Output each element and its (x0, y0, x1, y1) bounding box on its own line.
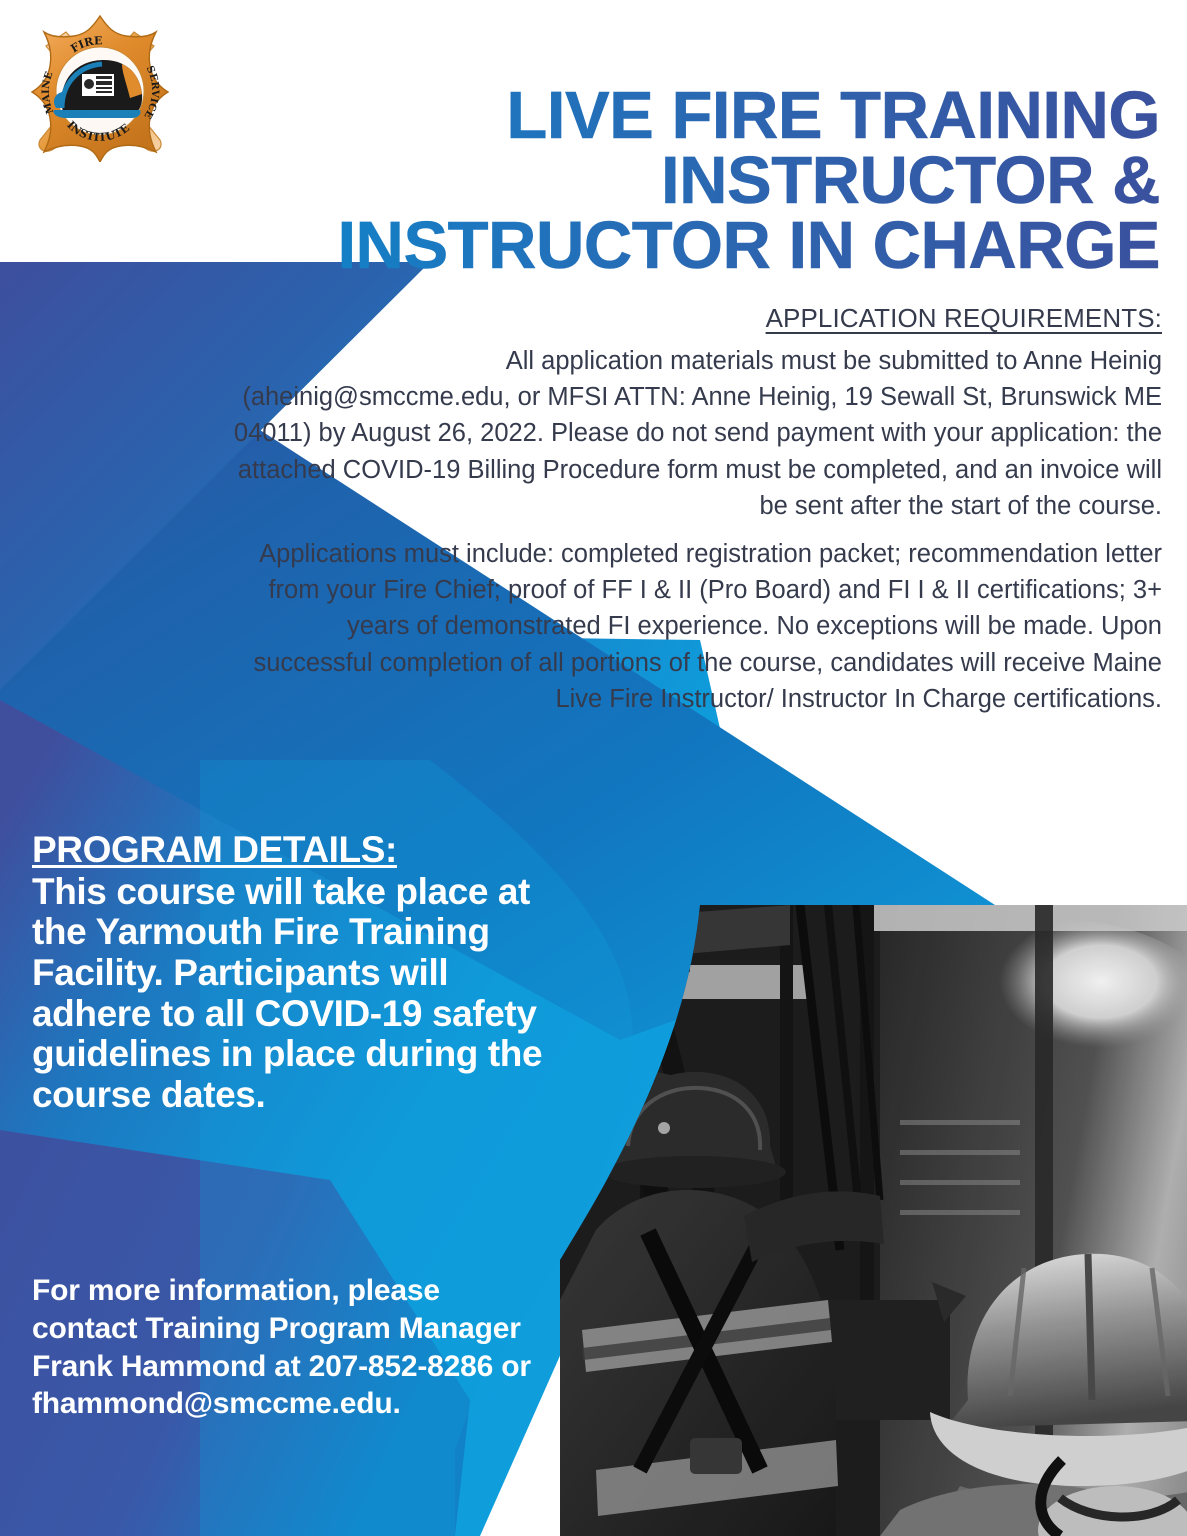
flyer-page: FIRE INSTITUTE MAINE SERVICE LIVE FIRE T… (0, 0, 1187, 1536)
application-requirements-heading: APPLICATION REQUIREMENTS: (766, 300, 1162, 337)
title-line-1: LIVE FIRE TRAINING (210, 83, 1160, 148)
program-details-body: This course will take place at the Yarmo… (32, 872, 552, 1116)
mfsi-logo: FIRE INSTITUTE MAINE SERVICE (26, 12, 174, 162)
application-requirements-section: APPLICATION REQUIREMENTS: All applicatio… (232, 300, 1162, 721)
program-details-section: PROGRAM DETAILS: This course will take p… (32, 830, 552, 1116)
title-line-3: INSTRUCTOR IN CHARGE (210, 213, 1160, 278)
contact-text: For more information, please contact Tra… (32, 1274, 531, 1420)
title-line-2: INSTRUCTOR & (210, 148, 1160, 213)
program-details-heading: PROGRAM DETAILS: (32, 830, 397, 871)
page-title: LIVE FIRE TRAINING INSTRUCTOR & INSTRUCT… (210, 83, 1160, 278)
requirements-paragraph-1: All application materials must be submit… (232, 343, 1162, 524)
contact-section: For more information, please contact Tra… (32, 1272, 552, 1423)
requirements-paragraph-2: Applications must include: completed reg… (232, 536, 1162, 717)
